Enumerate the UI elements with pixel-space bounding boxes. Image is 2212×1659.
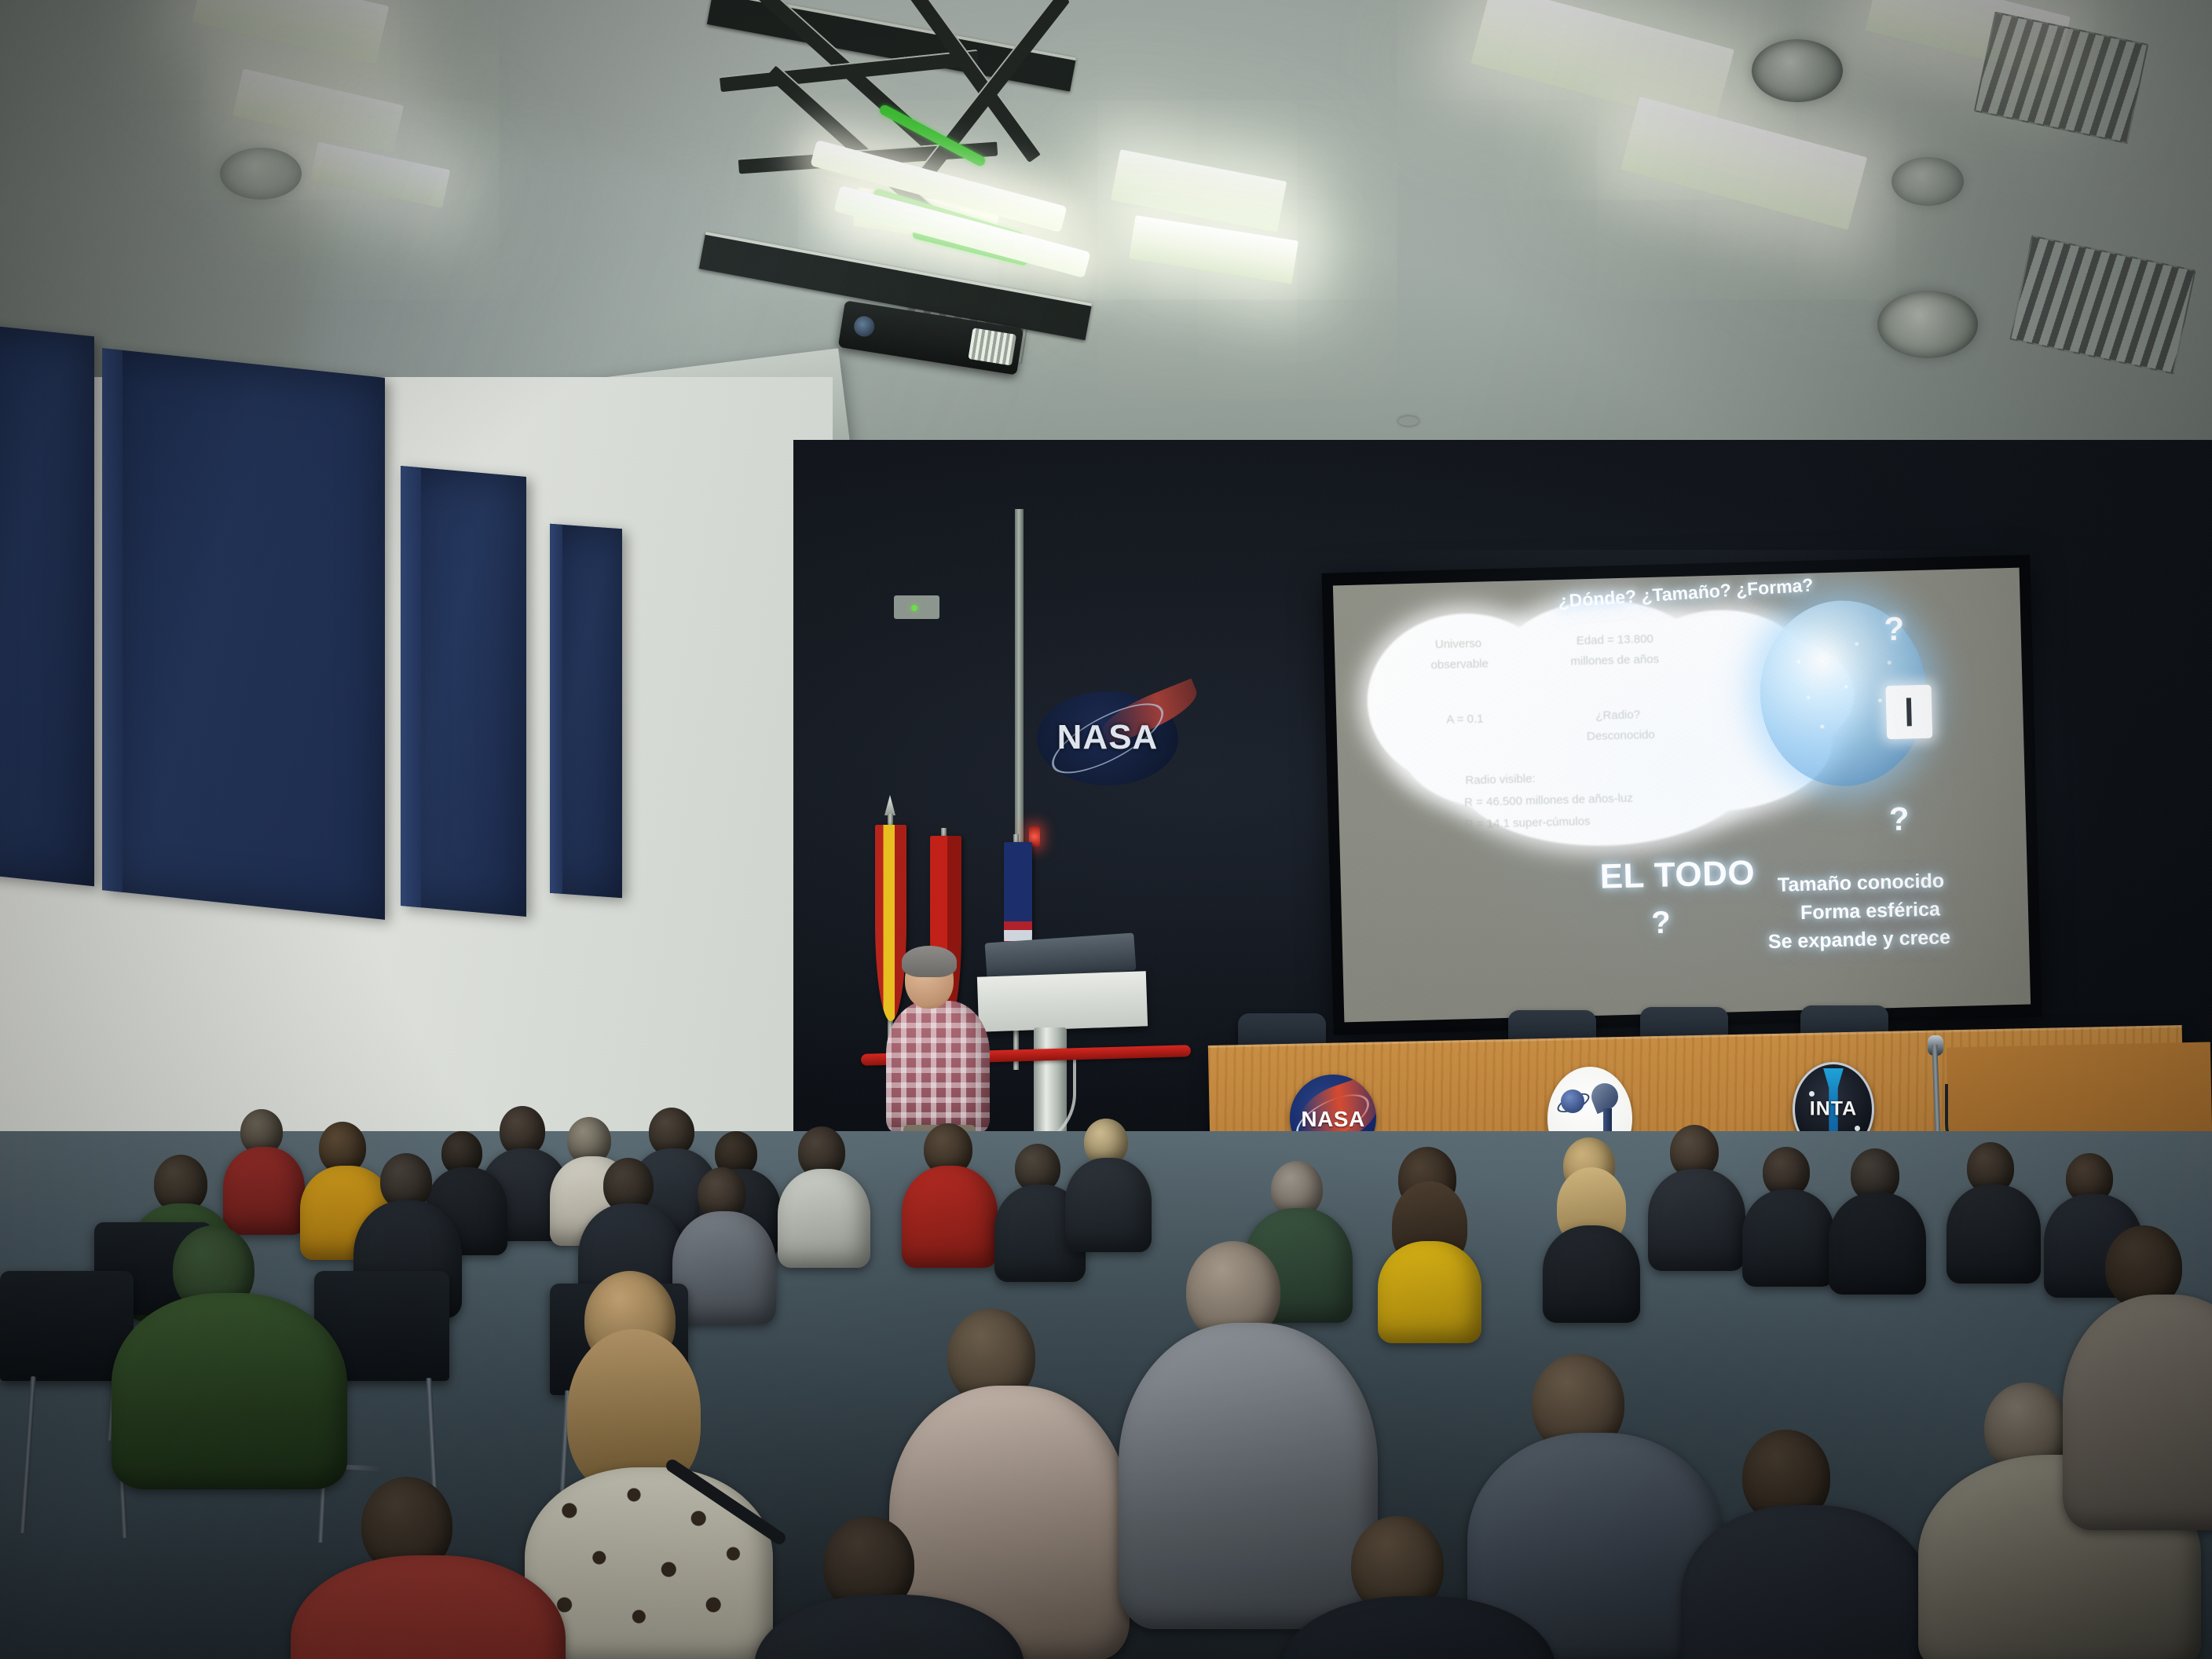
- presenter-hair: [902, 946, 957, 977]
- planet-icon: [1561, 1090, 1584, 1113]
- scissor-arm: [720, 49, 979, 92]
- projection-screen: Universo Edad = 13.800 observable millon…: [1321, 555, 2042, 1035]
- slide-faint-line: A = 0.1: [1446, 712, 1484, 727]
- desk-logo-nasa-text: NASA: [1301, 1107, 1364, 1132]
- torso: [1065, 1158, 1152, 1252]
- torso: [1946, 1185, 2041, 1284]
- slide-el-todo-label: EL TODO: [1599, 854, 1756, 897]
- presenter-plaid-shirt: [886, 1001, 990, 1133]
- slide-fact-line: Se expande y crece: [1768, 926, 1951, 954]
- torso-hoodie: [112, 1293, 347, 1489]
- left-wall: [0, 377, 833, 1178]
- projector-lens-icon: [852, 315, 876, 339]
- torso: [1829, 1192, 1926, 1295]
- torso: [778, 1169, 870, 1268]
- slide-question-mark-top: ?: [1884, 610, 1905, 649]
- wall-mount-pole: [1015, 509, 1024, 878]
- torso: [1543, 1225, 1640, 1323]
- torso: [1119, 1323, 1378, 1629]
- slide-faint-line: Radio visible:: [1465, 772, 1536, 787]
- torso: [1378, 1241, 1481, 1343]
- slide-faint-line: millones de años: [1570, 653, 1659, 668]
- slide-scale-marker: [1885, 685, 1932, 739]
- slide-questions-header: ¿Dónde? ¿Tamaño? ¿Forma?: [1558, 574, 1814, 612]
- acoustic-panel: [550, 524, 622, 898]
- projector-lift: [691, 8, 1131, 401]
- torso: [902, 1166, 998, 1268]
- slide-fact-line: Forma esférica: [1800, 898, 1941, 925]
- acoustic-panel: [0, 324, 94, 887]
- slide-faint-line: Desconocido: [1587, 728, 1655, 743]
- nasa-wall-logo: NASA: [1037, 691, 1178, 786]
- slide-question-mark-bottom: ?: [1888, 800, 1910, 838]
- green-status-light-icon: [911, 605, 917, 611]
- acoustic-panel: [401, 466, 526, 917]
- slide-fact-line: Tamaño conocido: [1778, 870, 1945, 897]
- acoustic-panel: [102, 348, 385, 920]
- torso: [1648, 1169, 1745, 1271]
- nasa-wall-logo-text: NASA: [1057, 718, 1159, 757]
- slide-faint-line: observable: [1430, 657, 1489, 672]
- auditorium-photo: NASA Universo Edad = 13.800 observa: [0, 0, 2212, 1659]
- torso: [223, 1147, 305, 1235]
- slide-faint-line: ¿Radio?: [1595, 708, 1640, 722]
- inta-dot-icon: [1855, 1126, 1860, 1131]
- projection-surface: Universo Edad = 13.800 observable millon…: [1333, 568, 2031, 1023]
- torso: [1681, 1505, 1931, 1659]
- podium-surface: [977, 971, 1148, 1031]
- torso: [1742, 1189, 1835, 1287]
- wall-sensor-box: [894, 595, 939, 619]
- slide-faint-line: Edad = 13.800: [1577, 632, 1654, 648]
- projector-vent-icon: [968, 328, 1016, 365]
- desk-logo-inta-text: INTA: [1810, 1098, 1857, 1121]
- slide-question-mark-eltodo: ?: [1651, 905, 1672, 941]
- slide-faint-line: Universo: [1435, 637, 1482, 652]
- inta-dot-icon: [1809, 1091, 1815, 1097]
